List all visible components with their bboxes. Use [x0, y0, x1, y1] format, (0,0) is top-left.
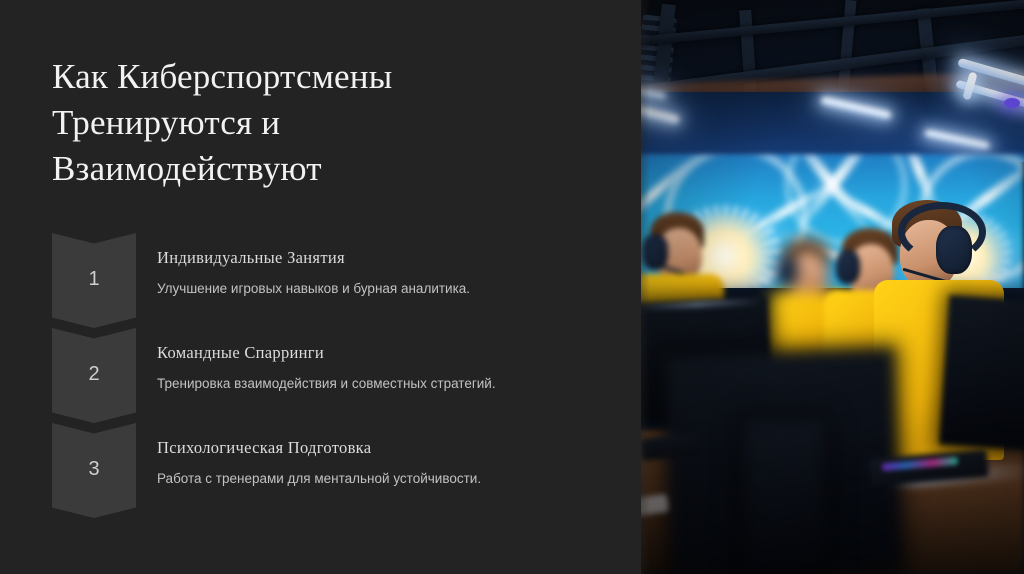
headset-earcup — [936, 226, 972, 274]
step-description: Улучшение игровых навыков и бурная анали… — [157, 279, 597, 298]
step-number-badge: 2 — [52, 328, 136, 423]
step-number-badge: 3 — [52, 423, 136, 518]
step-number-badge: 1 — [52, 233, 136, 328]
step-description: Тренировка взаимодействия и совместных с… — [157, 374, 597, 393]
step-item-1[interactable]: 1 Индивидуальные Занятия Улучшение игров… — [0, 233, 641, 328]
step-item-2[interactable]: 2 Командные Спарринги Тренировка взаимод… — [0, 328, 641, 423]
purple-accent-light — [1004, 98, 1020, 108]
photo-content: H — [624, 0, 1024, 574]
step-heading: Командные Спарринги — [157, 342, 597, 364]
monitor-right — [939, 295, 1024, 451]
esports-arena-photo: H — [624, 0, 1024, 574]
steps-list: 1 Индивидуальные Занятия Улучшение игров… — [0, 233, 641, 518]
presentation-slide: H Как Киберспортсмены Тренируются и Взаи… — [0, 0, 1024, 574]
step-item-3[interactable]: 3 Психологическая Подготовка Работа с тр… — [0, 423, 641, 518]
slide-title: Как Киберспортсмены Тренируются и Взаимо… — [52, 54, 532, 192]
step-number: 2 — [88, 364, 99, 384]
step-text-block: Командные Спарринги Тренировка взаимодей… — [157, 342, 597, 393]
step-text-block: Психологическая Подготовка Работа с трен… — [157, 437, 597, 488]
headset-earcup — [776, 256, 798, 286]
step-heading: Индивидуальные Занятия — [157, 247, 597, 269]
truss-beam — [624, 0, 1024, 49]
step-number: 3 — [88, 459, 99, 479]
step-text-block: Индивидуальные Занятия Улучшение игровых… — [157, 247, 597, 298]
content-panel: Как Киберспортсмены Тренируются и Взаимо… — [0, 0, 641, 574]
step-description: Работа с тренерами для ментальной устойч… — [157, 469, 597, 488]
monitor-stand — [744, 420, 824, 574]
step-heading: Психологическая Подготовка — [157, 437, 597, 459]
headset-earcup — [836, 250, 860, 284]
step-number: 1 — [88, 269, 99, 289]
